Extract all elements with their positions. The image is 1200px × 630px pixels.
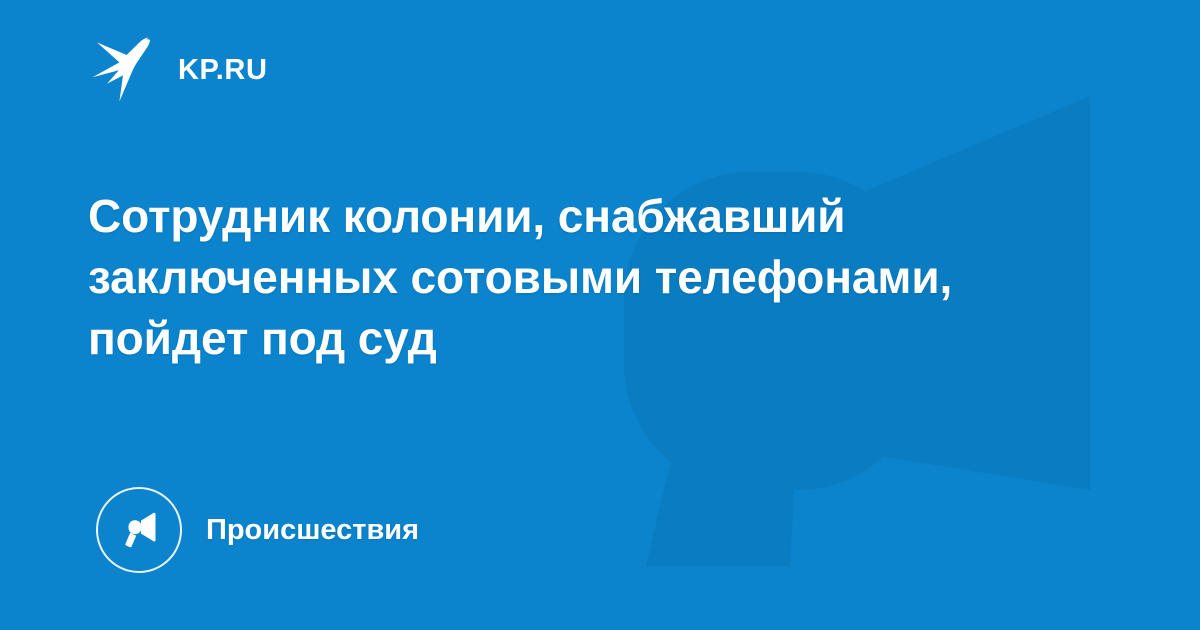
page-title: Сотрудник колонии, снабжавший заключенны…: [88, 186, 1088, 369]
category-label: Происшествия: [206, 516, 419, 545]
category-icon-circle: [96, 487, 182, 573]
brand-wordmark: KP.RU: [178, 54, 268, 85]
brand-logo[interactable]: KP.RU: [88, 30, 268, 108]
swallow-bird-icon: [88, 33, 160, 105]
megaphone-icon: [117, 508, 161, 552]
category-badge[interactable]: Происшествия: [96, 485, 419, 575]
share-card: KP.RU Сотрудник колонии, снабжавший закл…: [0, 0, 1200, 630]
